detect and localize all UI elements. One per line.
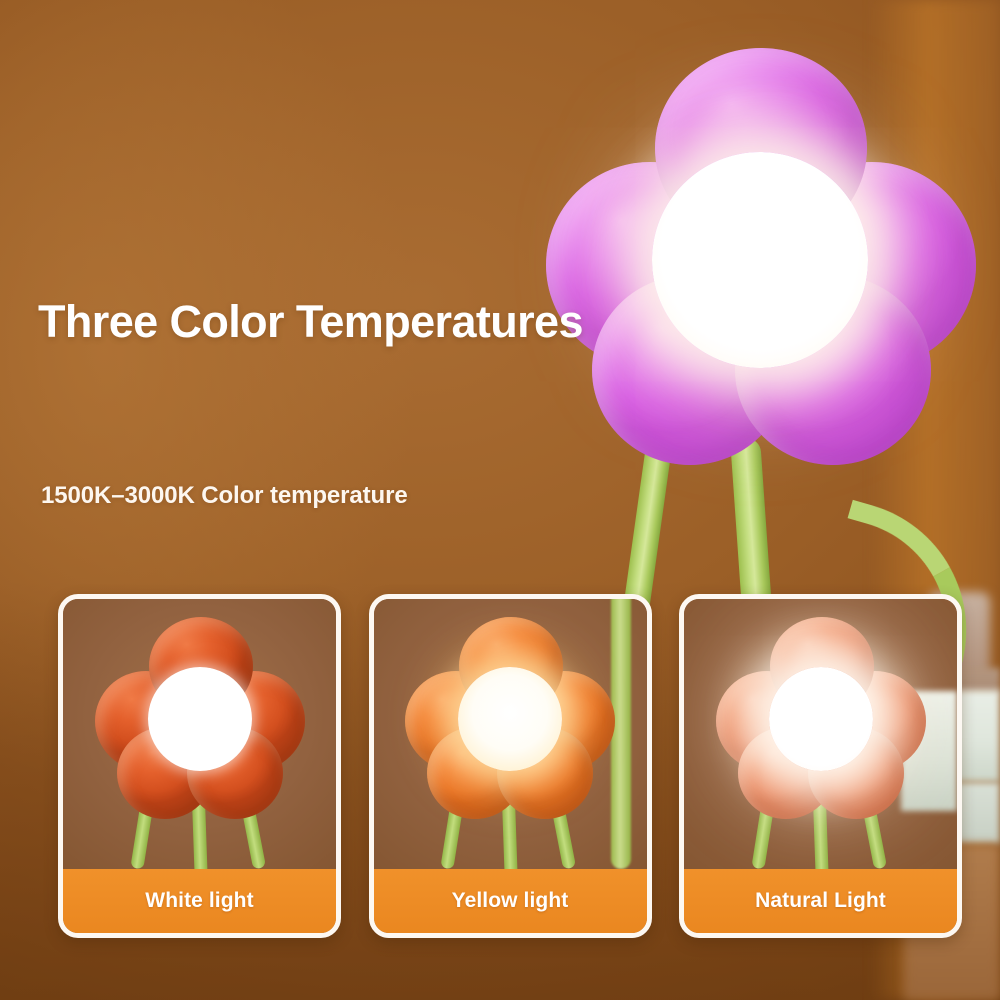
card-photo-yellow (374, 599, 647, 879)
mini-flower-head (714, 615, 928, 821)
card-label-yellow: Yellow light (374, 869, 647, 933)
mini-light-panel (769, 667, 873, 771)
card-label-natural: Natural Light (684, 869, 957, 933)
mini-flower-head (93, 615, 307, 821)
card-photo-white (63, 599, 336, 879)
mini-light-panel (458, 667, 562, 771)
product-scene: Three Color Temperatures 1500K–3000K Col… (0, 0, 1000, 1000)
color-temperature-card-white[interactable]: White light (58, 594, 341, 938)
page-title: Three Color Temperatures (38, 296, 583, 348)
mini-light-panel (148, 667, 252, 771)
color-temperature-card-list: White light (58, 594, 962, 938)
color-temperature-card-yellow[interactable]: Yellow light (369, 594, 652, 938)
hero-flower-lamp (540, 40, 1000, 680)
mini-flower-lamp-natural (714, 615, 928, 867)
mini-flower-lamp-white (93, 615, 307, 867)
mini-flower-lamp-yellow (403, 615, 617, 867)
color-temperature-card-natural[interactable]: Natural Light (679, 594, 962, 938)
lamp-light-panel (652, 152, 868, 368)
card-photo-natural (684, 599, 957, 879)
mini-flower-head (403, 615, 617, 821)
card-label-white: White light (63, 869, 336, 933)
lamp-flower-head (540, 40, 980, 470)
page-subtitle: 1500K–3000K Color temperature (41, 482, 408, 510)
